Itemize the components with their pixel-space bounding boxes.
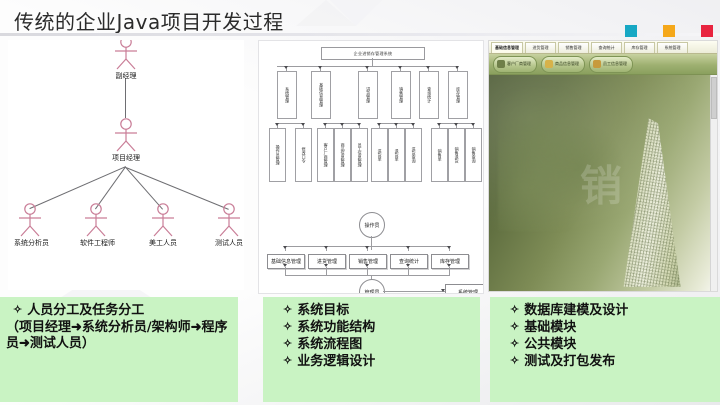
bullet-item: ✧系统目标: [283, 303, 474, 319]
flow-drop: [367, 267, 368, 275]
toolbar-button-label: 商品信息管理: [555, 61, 579, 67]
diamond-bullet-icon: ✧: [510, 303, 519, 318]
flow-node-l2-3: 商品信息管理: [334, 128, 351, 182]
flow-arrow-icon: [284, 66, 288, 69]
app-tab-bar: 基础信息管理进货管理销售管理查询统计库存管理系统管理: [489, 41, 717, 54]
bullet-item: ✧公共模块: [510, 337, 714, 353]
page-title: 传统的企业Java项目开发过程: [14, 6, 284, 35]
flow-arrow-icon: [394, 123, 398, 126]
diamond-bullet-icon: ✧: [283, 303, 292, 318]
flow-box-system-management: 系统管理: [445, 284, 484, 294]
toolbar-button-icon: [497, 60, 505, 68]
watermark-text: 销: [580, 153, 626, 214]
decor-square-orange: [663, 25, 675, 37]
org-node-3: 美工人员: [147, 203, 179, 248]
app-canvas: 销: [489, 75, 717, 291]
flow-arrow-icon: [447, 264, 451, 267]
bullet-item-label: 系统流程图: [297, 337, 362, 353]
bullet-item: ✧人员分工及任务分工: [13, 303, 232, 319]
decor-triangle: [330, 0, 382, 26]
diamond-bullet-icon: ✧: [283, 320, 292, 335]
title-underline: [0, 33, 720, 36]
flow-node-l1-5: 库存管理: [448, 71, 468, 119]
toolbar-button-label: 客户厂商管理: [507, 61, 531, 67]
flow-arrow-icon: [324, 264, 328, 267]
toolbar-button-label: 员工信息管理: [603, 61, 627, 67]
flow-node-l2-5: 进货单: [371, 128, 388, 182]
bullet-item-label: 数据库建模及设计: [524, 303, 628, 319]
org-connector-vertical: [125, 78, 126, 118]
bullet-paragraph: （项目经理➜系统分析员/架构师➜程序员➜测试人员）: [6, 320, 232, 352]
bullet-item-label: 测试及打包发布: [524, 354, 615, 370]
flow-arrow-icon: [398, 66, 402, 69]
flow-node-l2-6: 退货单: [388, 128, 405, 182]
flow-bus-modules-bottom: [285, 275, 450, 276]
app-tab-4[interactable]: 库存管理: [624, 42, 655, 53]
flow-node-l2-4: 员工信息管理: [351, 128, 368, 182]
app-tab-3[interactable]: 查询统计: [591, 42, 622, 53]
flow-arrow-icon: [471, 123, 475, 126]
diamond-bullet-icon: ✧: [510, 337, 519, 352]
bullet-item-label: 公共模块: [524, 337, 576, 353]
org-chart: 副经理项目经理系统分析员软件工程师美工人员测试人员: [8, 40, 244, 290]
scrollbar-thumb[interactable]: [711, 77, 717, 119]
org-node-vice-manager: 副经理: [110, 40, 142, 81]
flow-actor-operator: 操作员: [359, 212, 385, 238]
flow-node-l2-2: 客户厂商管理: [317, 128, 334, 182]
diamond-bullet-icon: ✧: [283, 354, 292, 369]
bullet-item-label: 系统目标: [297, 303, 349, 319]
flow-arrow-icon: [406, 264, 410, 267]
org-node-1: 系统分析员: [14, 203, 46, 248]
flow-node-l1-1: 基础信息管理: [311, 71, 331, 119]
flow-arrow-icon: [455, 66, 459, 69]
system-structure-diagram: 企业进销存管理系统 系统管理基础信息管理进货管理销售管理查询统计库存管理操作员管…: [259, 41, 483, 293]
flow-arrow-icon: [365, 264, 369, 267]
flow-arrow-icon: [283, 264, 287, 267]
flow-node-l1-4: 查询统计: [419, 71, 439, 119]
bullet-item: ✧基础模块: [510, 320, 714, 336]
flow-arrow-icon: [340, 123, 344, 126]
flow-arrow-icon: [324, 246, 328, 249]
org-chart-image: 副经理项目经理系统分析员软件工程师美工人员测试人员: [8, 40, 244, 290]
diamond-bullet-icon: ✧: [510, 320, 519, 335]
bullet-item: ✧系统流程图: [283, 337, 474, 353]
flow-arrow-icon: [323, 123, 327, 126]
bullet-item-label: 人员分工及任务分工: [27, 303, 144, 319]
bullet-item-label: 基础模块: [524, 320, 576, 336]
bullet-item: ✧数据库建模及设计: [510, 303, 714, 319]
flow-node-l2-8: 销售单: [431, 128, 448, 182]
flow-drop: [326, 267, 327, 275]
flow-arrow-icon: [301, 123, 305, 126]
flow-node-l2-0: 操作员管理: [269, 128, 286, 182]
flow-arrow-icon: [437, 123, 441, 126]
flow-node-l2-1: 修改口令: [295, 128, 312, 182]
bullet-item-label: 业务逻辑设计: [297, 354, 375, 370]
bullet-item: ✧系统功能结构: [283, 320, 474, 336]
org-node-label: 软件工程师: [80, 238, 112, 248]
flow-connector: [371, 236, 372, 250]
flow-root-box: 企业进销存管理系统: [321, 47, 425, 60]
flow-node-l2-10: 销售查询: [465, 128, 482, 182]
decorative-squares: [625, 25, 713, 37]
application-screenshot: 基础信息管理进货管理销售管理查询统计库存管理系统管理 客户厂商管理商品信息管理员…: [488, 40, 718, 292]
app-toolbar-button-1[interactable]: 商品信息管理: [541, 56, 585, 73]
app-toolbar-button-2[interactable]: 员工信息管理: [589, 56, 633, 73]
decor-square-teal: [625, 25, 637, 37]
app-window: 基础信息管理进货管理销售管理查询统计库存管理系统管理 客户厂商管理商品信息管理员…: [489, 41, 717, 291]
app-toolbar-button-0[interactable]: 客户厂商管理: [493, 56, 537, 73]
flow-arrow-icon: [426, 66, 430, 69]
bullet-box-3: ✧数据库建模及设计✧基础模块✧公共模块✧测试及打包发布: [490, 297, 720, 402]
bullet-item: ✧测试及打包发布: [510, 354, 714, 370]
flow-arrow-icon: [377, 123, 381, 126]
bullet-box-1: ✧人员分工及任务分工（项目经理➜系统分析员/架构师➜程序员➜测试人员）: [0, 297, 238, 402]
flow-actor-admin: 管理员: [359, 279, 385, 294]
app-toolbar: 客户厂商管理商品信息管理员工信息管理: [489, 54, 717, 75]
flow-arrow-icon: [447, 246, 451, 249]
org-node-4: 测试人员: [213, 203, 244, 248]
flow-drop: [408, 267, 409, 275]
org-node-label: 美工人员: [147, 238, 179, 248]
app-scrollbar[interactable]: [710, 75, 717, 291]
flow-drop: [285, 267, 286, 275]
bullet-box-2: ✧系统目标✧系统功能结构✧系统流程图✧业务逻辑设计: [263, 297, 480, 402]
flow-node-l2-9: 销售退货: [448, 128, 465, 182]
flow-node-l2-7: 进货查询: [405, 128, 422, 182]
bullet-item: ✧业务逻辑设计: [283, 354, 474, 370]
flow-bus-level2: [277, 123, 304, 124]
flow-arrow-icon: [275, 123, 279, 126]
flow-trunk: [372, 58, 373, 66]
org-node-2: 软件工程师: [80, 203, 112, 248]
flow-arrow-icon: [318, 66, 322, 69]
toolbar-button-icon: [545, 60, 553, 68]
flow-arrow-icon: [406, 246, 410, 249]
app-tab-0[interactable]: 基础信息管理: [491, 42, 523, 53]
org-node-project-manager: 项目经理: [110, 118, 142, 163]
flow-arrow-icon: [454, 123, 458, 126]
flow-node-l1-3: 销售管理: [391, 71, 411, 119]
flow-drop: [449, 267, 450, 275]
flow-node-l1-2: 进货管理: [358, 71, 378, 119]
diamond-bullet-icon: ✧: [510, 354, 519, 369]
diamond-bullet-icon: ✧: [283, 337, 292, 352]
system-structure-image: 企业进销存管理系统 系统管理基础信息管理进货管理销售管理查询统计库存管理操作员管…: [258, 40, 484, 294]
org-node-label: 测试人员: [213, 238, 244, 248]
flow-arrow-icon: [283, 246, 287, 249]
flow-arrow-icon: [365, 246, 369, 249]
flow-connector-admin: [383, 291, 445, 292]
org-node-label: 系统分析员: [14, 238, 46, 248]
flow-arrow-icon: [357, 123, 361, 126]
org-node-label: 项目经理: [110, 153, 142, 163]
diamond-bullet-icon: ✧: [13, 303, 22, 318]
app-tab-5[interactable]: 系统管理: [657, 42, 688, 53]
flow-node-l1-0: 系统管理: [277, 71, 297, 119]
app-tab-2[interactable]: 销售管理: [558, 42, 589, 53]
org-node-label: 副经理: [110, 71, 142, 81]
toolbar-button-icon: [593, 60, 601, 68]
bullet-item-label: 系统功能结构: [297, 320, 375, 336]
app-tab-1[interactable]: 进货管理: [525, 42, 556, 53]
decor-square-red: [701, 25, 713, 37]
flow-arrow-icon: [365, 66, 369, 69]
flow-arrow-icon: [411, 123, 415, 126]
